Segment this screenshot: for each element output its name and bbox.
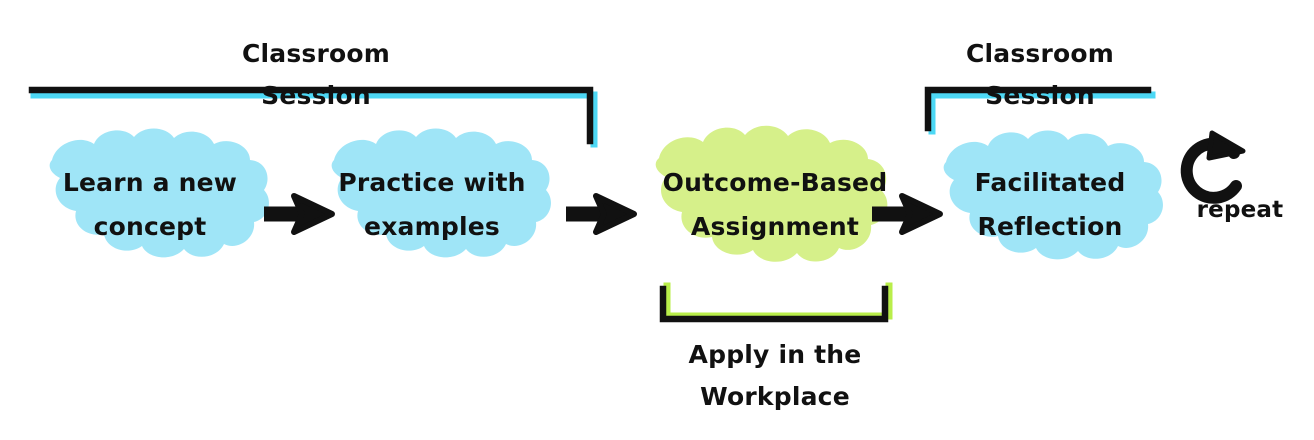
cloud-shape-green — [656, 126, 888, 262]
bracket-bottom-shadow — [667, 286, 889, 316]
cloud-shape-blue-2 — [332, 128, 551, 257]
arrow-learn-to-practice — [264, 196, 332, 232]
bracket-apply-in-the-workplace — [663, 286, 889, 319]
node-outcome-based-assignment[interactable] — [656, 126, 888, 262]
diagram-canvas: Classroom Session Classroom Session Appl… — [0, 0, 1314, 440]
bracket-right-shadow — [932, 95, 1152, 131]
node-practice-with-examples[interactable] — [332, 128, 551, 257]
diagram-svg — [0, 0, 1314, 440]
node-learn-a-new-concept[interactable] — [50, 128, 269, 257]
cloud-shape-blue-3 — [944, 130, 1163, 259]
node-facilitated-reflection[interactable] — [944, 130, 1163, 259]
repeat-icon — [1187, 133, 1243, 198]
arrow-practice-to-assignment — [566, 196, 634, 232]
bracket-classroom-session-right — [928, 90, 1152, 131]
cloud-shape-blue-1 — [50, 128, 269, 257]
arrow-1-head — [294, 196, 332, 232]
arrow-3-head — [902, 196, 940, 232]
arrow-2-head — [596, 196, 634, 232]
repeat-icon-arrowhead — [1209, 133, 1243, 158]
